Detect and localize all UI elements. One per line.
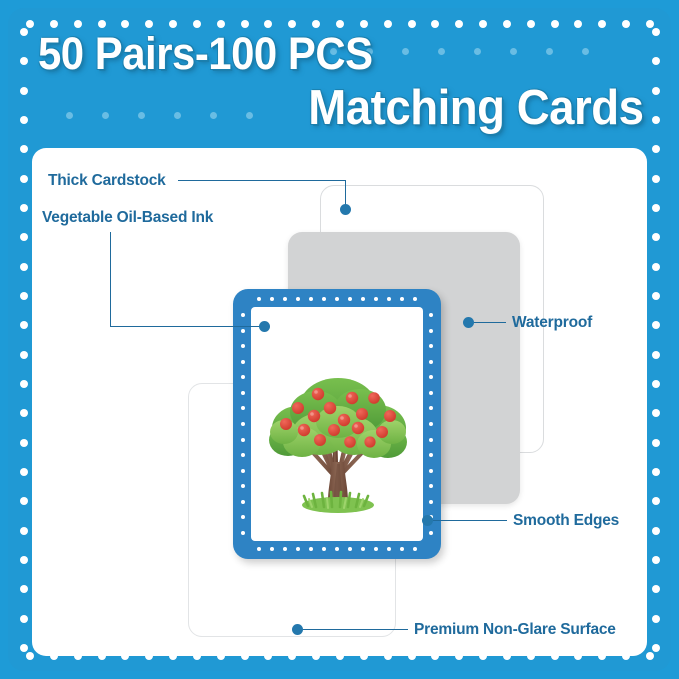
card-dot-col-left bbox=[241, 313, 245, 535]
frame-dot bbox=[20, 28, 28, 36]
header: 50 Pairs-100 PCS Matching Cards bbox=[34, 24, 646, 142]
card-dot bbox=[241, 422, 245, 426]
frame-dot bbox=[20, 292, 28, 300]
card-dot bbox=[429, 438, 433, 442]
frame-dot bbox=[652, 439, 660, 447]
frame-dot bbox=[20, 615, 28, 623]
frame-dot bbox=[20, 468, 28, 476]
card-dot bbox=[429, 484, 433, 488]
callout-marker-waterproof bbox=[463, 317, 474, 328]
frame-dot bbox=[20, 204, 28, 212]
frame-dot bbox=[652, 175, 660, 183]
frame-dot bbox=[20, 87, 28, 95]
callout-label-smooth-edges: Smooth Edges bbox=[513, 512, 619, 530]
card-dot bbox=[241, 313, 245, 317]
frame-dot bbox=[652, 87, 660, 95]
frame-dot bbox=[20, 175, 28, 183]
card-dot bbox=[241, 515, 245, 519]
frame-dot bbox=[20, 380, 28, 388]
apple-tree-illustration bbox=[258, 350, 418, 518]
card-dot bbox=[374, 297, 378, 301]
frame-dot bbox=[26, 20, 34, 28]
card-dot bbox=[270, 297, 274, 301]
leader-line-premium-non-glare bbox=[303, 629, 408, 630]
card-dot bbox=[429, 375, 433, 379]
card-dot bbox=[241, 453, 245, 457]
card-dot bbox=[241, 531, 245, 535]
frame-dot bbox=[20, 644, 28, 652]
card-dot-row-top bbox=[257, 297, 417, 301]
card-dot bbox=[429, 453, 433, 457]
title-line-secondary: Matching Cards bbox=[309, 80, 644, 136]
card-dot bbox=[241, 406, 245, 410]
card-dot bbox=[241, 375, 245, 379]
frame-dot bbox=[652, 615, 660, 623]
leader-line-smooth-edges bbox=[433, 520, 507, 521]
frame-dot bbox=[652, 116, 660, 124]
card-dot bbox=[257, 547, 261, 551]
frame-dot bbox=[652, 321, 660, 329]
card-dot bbox=[309, 297, 313, 301]
leader-line-thick-cardstock-h bbox=[178, 180, 346, 181]
card-dot bbox=[361, 547, 365, 551]
card-dot bbox=[361, 297, 365, 301]
frame-dot bbox=[652, 145, 660, 153]
card-dot bbox=[283, 547, 287, 551]
card-dot bbox=[429, 422, 433, 426]
card-dot bbox=[296, 547, 300, 551]
card-dot bbox=[374, 547, 378, 551]
card-dot bbox=[429, 500, 433, 504]
leader-line-waterproof bbox=[474, 322, 506, 323]
callout-label-premium-non-glare-surface: Premium Non-Glare Surface bbox=[414, 621, 616, 639]
title-line-primary: 50 Pairs-100 PCS bbox=[38, 28, 373, 80]
callout-marker-premium-non-glare bbox=[292, 624, 303, 635]
frame-dot bbox=[646, 652, 654, 660]
frame-dot bbox=[652, 57, 660, 65]
card-dot bbox=[241, 438, 245, 442]
frame-dot bbox=[652, 233, 660, 241]
card-dot bbox=[322, 297, 326, 301]
card-dot bbox=[241, 360, 245, 364]
card-dot bbox=[429, 391, 433, 395]
frame-dot-col-left bbox=[20, 28, 28, 652]
card-dot bbox=[335, 547, 339, 551]
frame-dot bbox=[652, 644, 660, 652]
frame-dot bbox=[652, 28, 660, 36]
card-dot bbox=[429, 360, 433, 364]
card-dot-col-right bbox=[429, 313, 433, 535]
card-dot bbox=[257, 297, 261, 301]
frame-dot bbox=[20, 57, 28, 65]
card-dot bbox=[400, 297, 404, 301]
card-dot bbox=[348, 297, 352, 301]
card-dot bbox=[241, 391, 245, 395]
callout-marker-vegetable-oil-based-ink bbox=[259, 321, 270, 332]
frame-dot bbox=[652, 263, 660, 271]
frame-dot bbox=[20, 527, 28, 535]
card-dot-row-bottom bbox=[257, 547, 417, 551]
callout-label-thick-cardstock: Thick Cardstock bbox=[48, 172, 166, 190]
card-dot bbox=[283, 297, 287, 301]
frame-dot bbox=[20, 585, 28, 593]
frame-dot bbox=[652, 351, 660, 359]
card-dot bbox=[400, 547, 404, 551]
frame-dot bbox=[20, 233, 28, 241]
frame-dot bbox=[652, 527, 660, 535]
card-dot bbox=[309, 547, 313, 551]
frame-dot bbox=[20, 439, 28, 447]
card-dot bbox=[241, 484, 245, 488]
frame-dot-col-right bbox=[652, 28, 660, 652]
frame-dot bbox=[652, 497, 660, 505]
card-dot bbox=[241, 344, 245, 348]
frame-dot bbox=[652, 292, 660, 300]
card-dot bbox=[413, 547, 417, 551]
callout-marker-thick-cardstock bbox=[340, 204, 351, 215]
frame-dot bbox=[652, 409, 660, 417]
card-dot bbox=[241, 329, 245, 333]
frame-dot bbox=[20, 351, 28, 359]
callout-label-waterproof: Waterproof bbox=[512, 314, 592, 332]
frame-dot bbox=[652, 468, 660, 476]
card-dot bbox=[296, 297, 300, 301]
card-dot bbox=[348, 547, 352, 551]
card-dot bbox=[429, 313, 433, 317]
leader-line-vegetable-oil-h bbox=[110, 326, 265, 327]
product-infographic: 50 Pairs-100 PCS Matching Cards bbox=[0, 0, 679, 679]
card-dot bbox=[322, 547, 326, 551]
frame-dot bbox=[20, 263, 28, 271]
card-dot bbox=[387, 297, 391, 301]
frame-dot bbox=[646, 20, 654, 28]
frame-dot bbox=[26, 652, 34, 660]
frame-dot bbox=[20, 409, 28, 417]
frame-dot bbox=[20, 556, 28, 564]
frame-dot bbox=[652, 380, 660, 388]
card-dot bbox=[413, 297, 417, 301]
frame-dot bbox=[20, 497, 28, 505]
card-dot bbox=[387, 547, 391, 551]
card-dot bbox=[429, 406, 433, 410]
card-dot bbox=[429, 469, 433, 473]
card-dot bbox=[270, 547, 274, 551]
card-dot bbox=[241, 469, 245, 473]
card-dot bbox=[429, 329, 433, 333]
frame-dot bbox=[652, 204, 660, 212]
frame-dot bbox=[652, 556, 660, 564]
callout-marker-smooth-edges bbox=[422, 515, 433, 526]
card-dot bbox=[241, 500, 245, 504]
card-dot bbox=[429, 344, 433, 348]
callout-label-vegetable-oil-based-ink: Vegetable Oil-Based Ink bbox=[42, 209, 213, 227]
frame-dot bbox=[20, 321, 28, 329]
leader-line-vegetable-oil-v bbox=[110, 232, 111, 327]
frame-dot bbox=[20, 116, 28, 124]
frame-dot bbox=[652, 585, 660, 593]
card-dot bbox=[429, 531, 433, 535]
card-dot bbox=[335, 297, 339, 301]
frame-dot bbox=[20, 145, 28, 153]
